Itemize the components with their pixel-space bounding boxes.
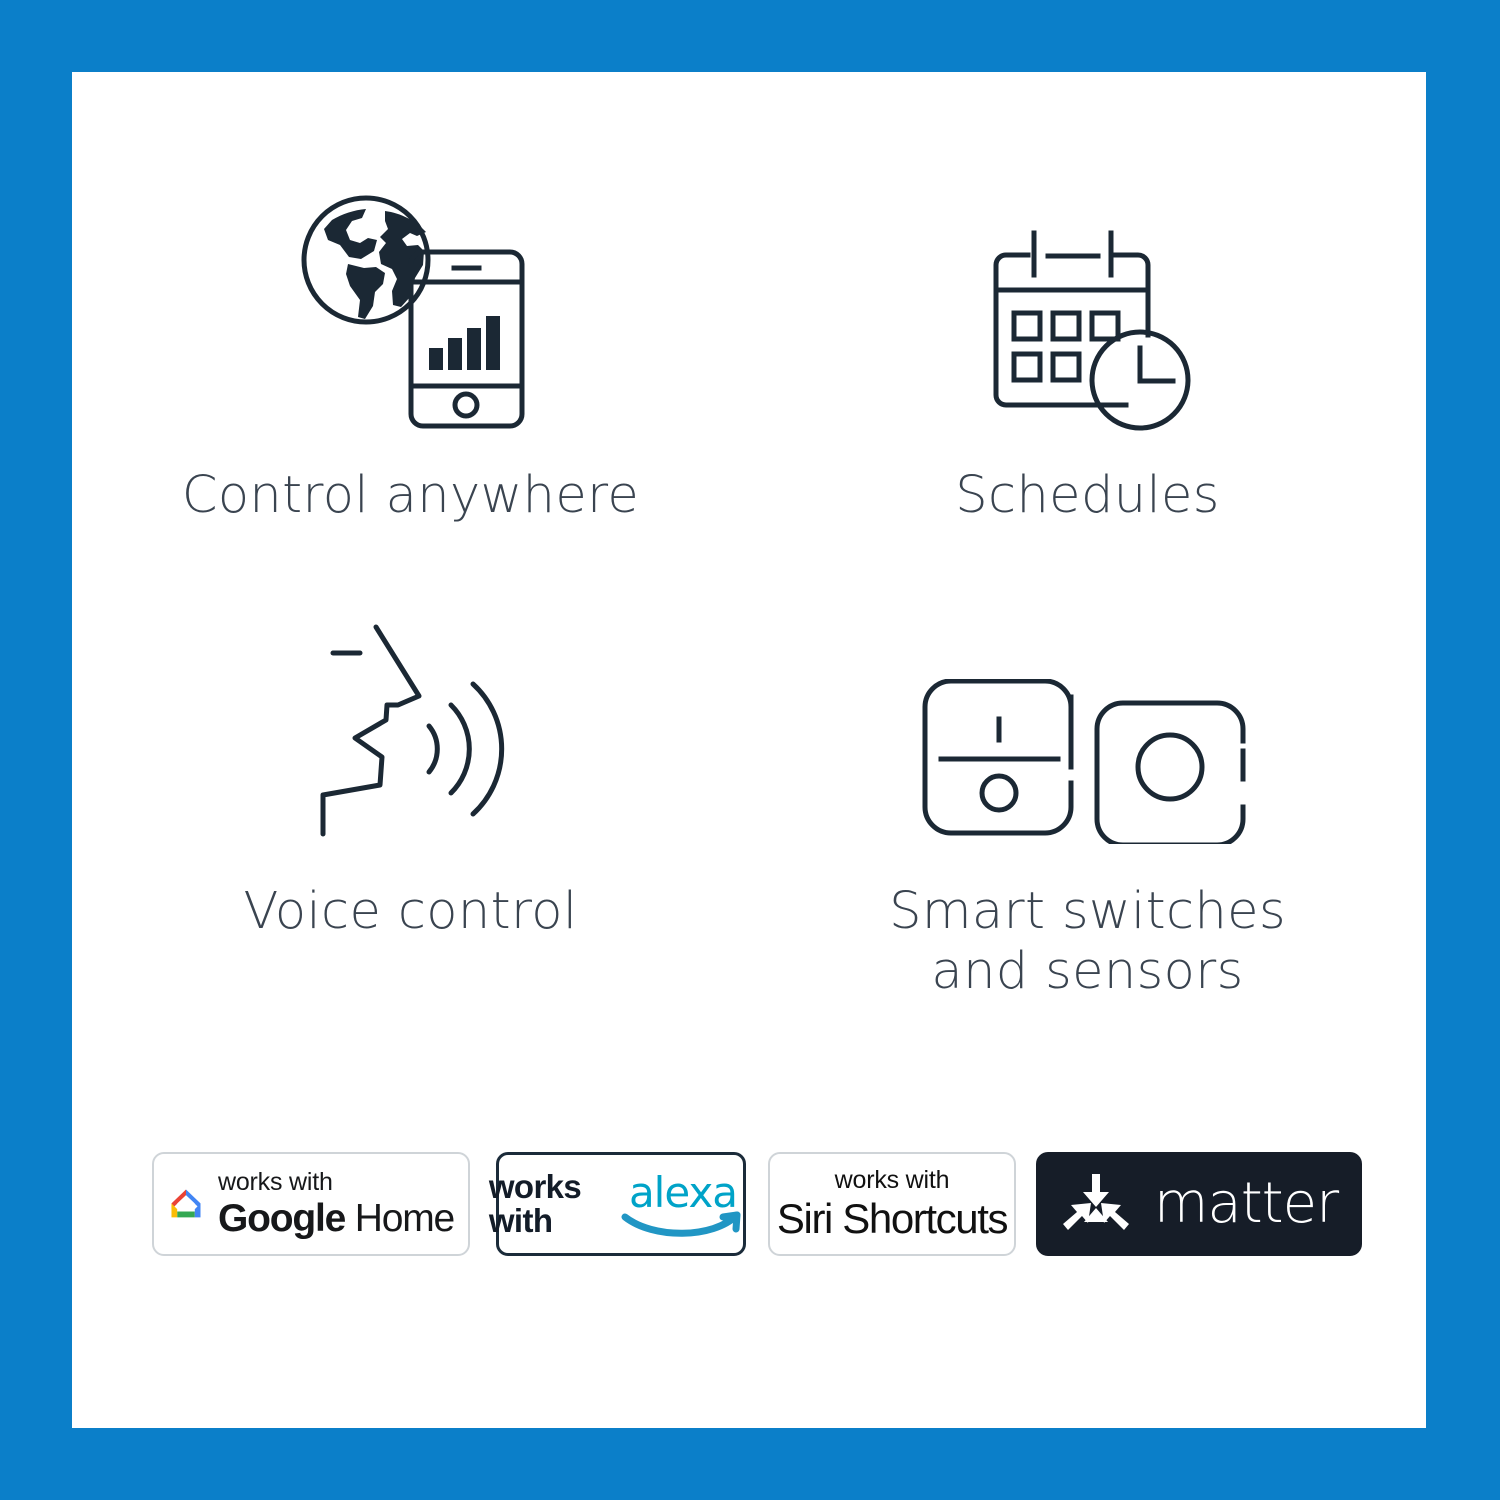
feature-label-line1: Smart switches (889, 882, 1286, 942)
badge-brand-bold: Google (218, 1197, 345, 1240)
speaking-head-icon (288, 572, 533, 844)
badge-works-with-siri-shortcuts[interactable]: works with Siri Shortcuts (768, 1152, 1016, 1256)
feature-grid: Control anywhere (72, 72, 1426, 1002)
feature-label: Control anywhere (182, 466, 639, 526)
matter-logo-icon (1060, 1168, 1132, 1240)
feature-label-line2: and sensors (889, 942, 1286, 1002)
badge-line2: with (489, 1204, 553, 1238)
switch-sensor-icon (913, 572, 1263, 844)
google-home-house-icon (168, 1173, 204, 1235)
amazon-smile-icon: alexa (613, 1167, 753, 1241)
feature-voice-control: Voice control (72, 572, 749, 1002)
alexa-works-with-text: works with (489, 1170, 597, 1237)
globe-phone-icon (286, 72, 536, 440)
feature-control-anywhere: Control anywhere (72, 72, 749, 572)
feature-label: Schedules (955, 466, 1220, 526)
badge-works-with-alexa[interactable]: works with alexa (496, 1152, 746, 1256)
badge-brand-light: Home (355, 1197, 454, 1240)
badge-prefix: works with (835, 1168, 950, 1193)
feature-label: Voice control (244, 882, 578, 942)
badge-line1: works (489, 1170, 581, 1204)
calendar-clock-icon (968, 72, 1208, 440)
alexa-logo: alexa (597, 1167, 753, 1241)
badge-works-with-google-home[interactable]: works with Google Home (152, 1152, 470, 1256)
compatibility-badge-row: works with Google Home works with alexa (152, 1149, 1372, 1259)
feature-schedules: Schedules (749, 72, 1426, 572)
badge-prefix: works with (218, 1170, 454, 1195)
badge-brand: Google Home (218, 1199, 454, 1238)
google-home-text: works with Google Home (218, 1170, 454, 1238)
siri-shortcuts-text: works with Siri Shortcuts (777, 1168, 1007, 1240)
badge-brand: Siri Shortcuts (777, 1198, 1007, 1240)
feature-label: Smart switches and sensors (889, 882, 1286, 1002)
badge-matter[interactable]: matter (1036, 1152, 1362, 1256)
svg-text:alexa: alexa (629, 1168, 737, 1217)
product-feature-panel: Control anywhere (72, 72, 1426, 1428)
badge-brand: matter (1154, 1176, 1338, 1232)
feature-smart-switches-and-sensors: Smart switches and sensors (749, 572, 1426, 1002)
